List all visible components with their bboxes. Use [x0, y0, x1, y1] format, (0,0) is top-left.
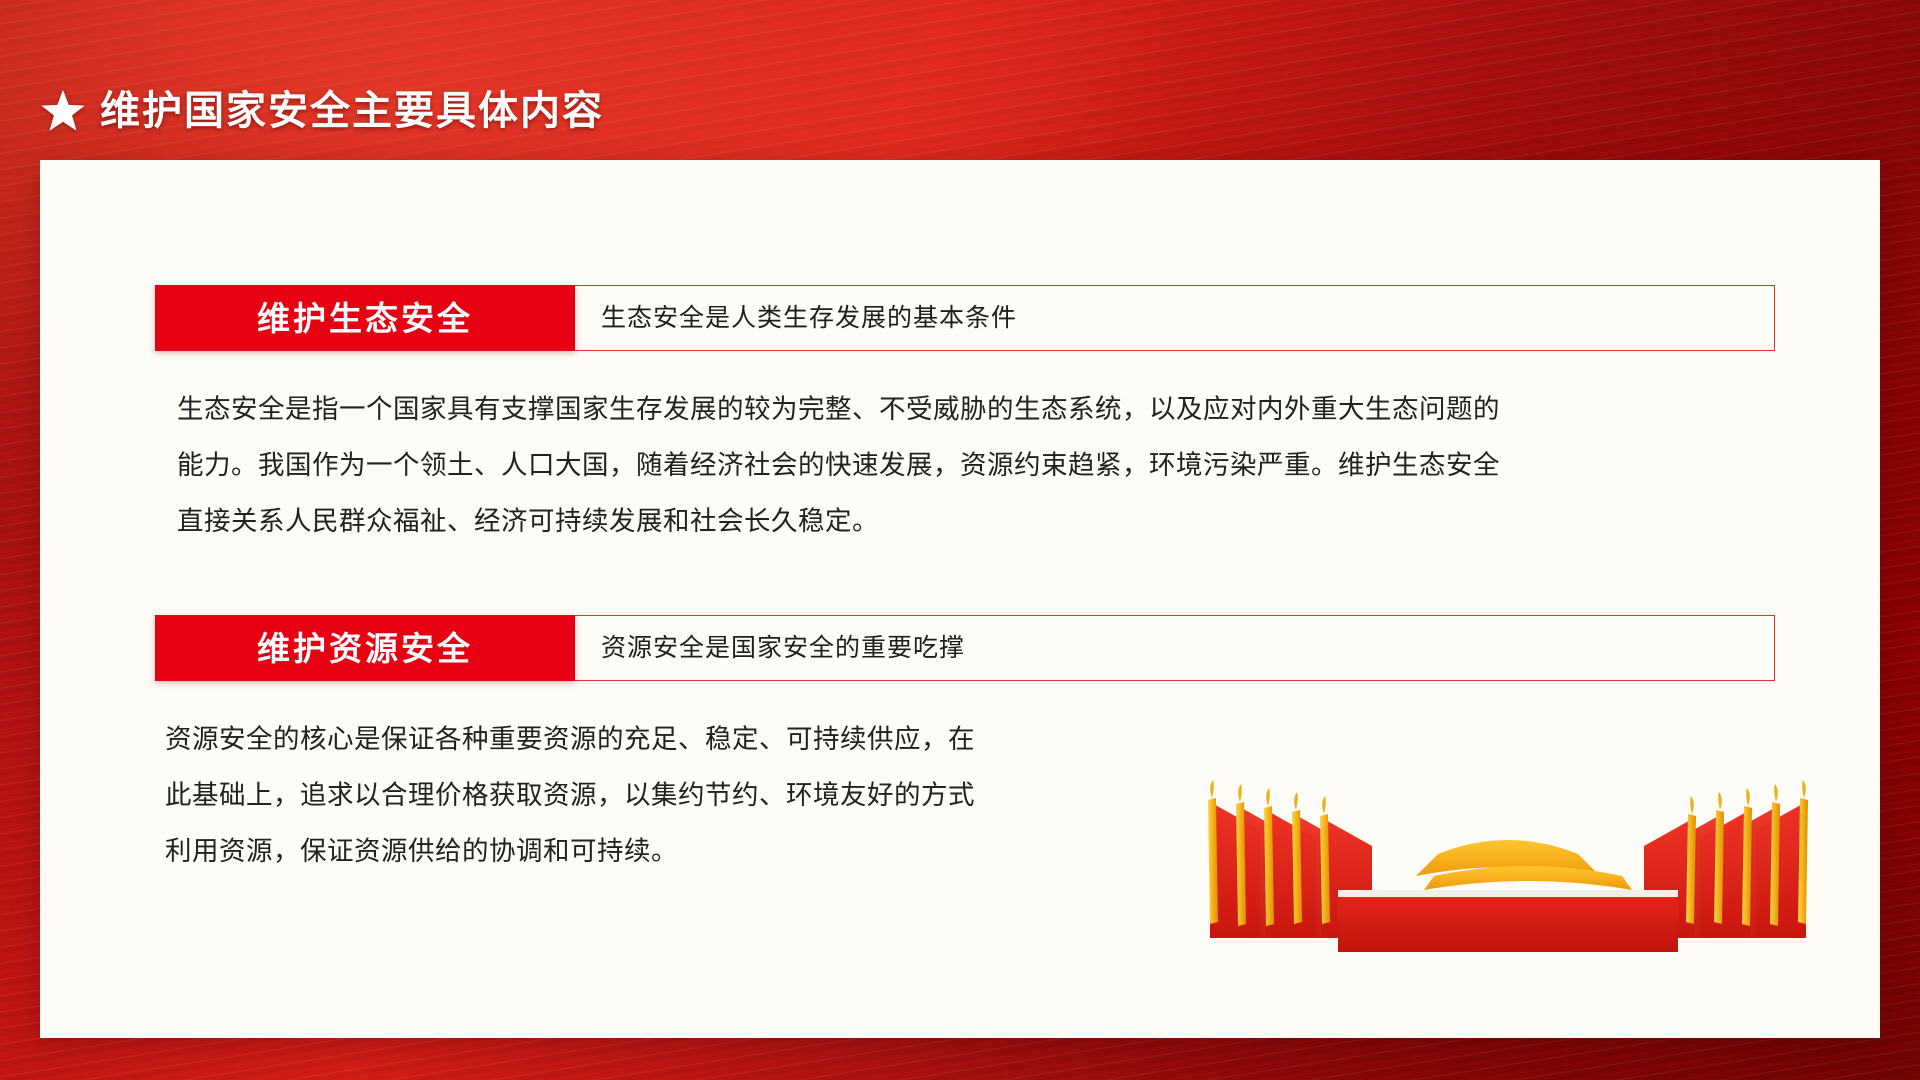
- page-title: 维护国家安全主要具体内容: [100, 91, 604, 131]
- star-icon: [40, 88, 86, 134]
- slide-canvas: 维护国家安全主要具体内容 维护生态安全 生态安全是人类生存发展的基本条件 生态安…: [0, 0, 1920, 1080]
- content-card: 维护生态安全 生态安全是人类生存发展的基本条件 生态安全是指一个国家具有支撑国家…: [40, 160, 1880, 1038]
- tiananmen-illustration: [1188, 772, 1828, 952]
- section-body: 资源安全的核心是保证各种重要资源的充足、稳定、可持续供应，在 此基础上，追求以合…: [155, 711, 1165, 879]
- slide-title-row: 维护国家安全主要具体内容: [40, 88, 604, 134]
- section-ecological-security: 维护生态安全 生态安全是人类生存发展的基本条件 生态安全是指一个国家具有支撑国家…: [155, 285, 1775, 549]
- section-subtitle-bar: 资源安全是国家安全的重要吃撑: [575, 615, 1775, 681]
- section-badge-label: 维护生态安全: [257, 302, 473, 335]
- body-line: 直接关系人民群众福祉、经济可持续发展和社会长久稳定。: [177, 493, 1775, 549]
- section-subtitle: 生态安全是人类生存发展的基本条件: [601, 306, 1017, 331]
- section-body: 生态安全是指一个国家具有支撑国家生存发展的较为完整、不受威胁的生态系统，以及应对…: [155, 381, 1775, 549]
- section-header: 维护生态安全 生态安全是人类生存发展的基本条件: [155, 285, 1775, 351]
- platform: [1338, 890, 1678, 952]
- body-line: 此基础上，追求以合理价格获取资源，以集约节约、环境友好的方式: [165, 767, 1165, 823]
- section-badge[interactable]: 维护资源安全: [155, 615, 575, 681]
- body-line: 利用资源，保证资源供给的协调和可持续。: [165, 823, 1165, 879]
- body-line: 资源安全的核心是保证各种重要资源的充足、稳定、可持续供应，在: [165, 711, 1165, 767]
- section-header: 维护资源安全 资源安全是国家安全的重要吃撑: [155, 615, 1775, 681]
- body-line: 生态安全是指一个国家具有支撑国家生存发展的较为完整、不受威胁的生态系统，以及应对…: [177, 381, 1775, 437]
- section-subtitle-bar: 生态安全是人类生存发展的基本条件: [575, 285, 1775, 351]
- body-line: 能力。我国作为一个领土、人口大国，随着经济社会的快速发展，资源约束趋紧，环境污染…: [177, 437, 1775, 493]
- section-badge-label: 维护资源安全: [257, 632, 473, 665]
- section-badge[interactable]: 维护生态安全: [155, 285, 575, 351]
- section-subtitle: 资源安全是国家安全的重要吃撑: [601, 636, 965, 661]
